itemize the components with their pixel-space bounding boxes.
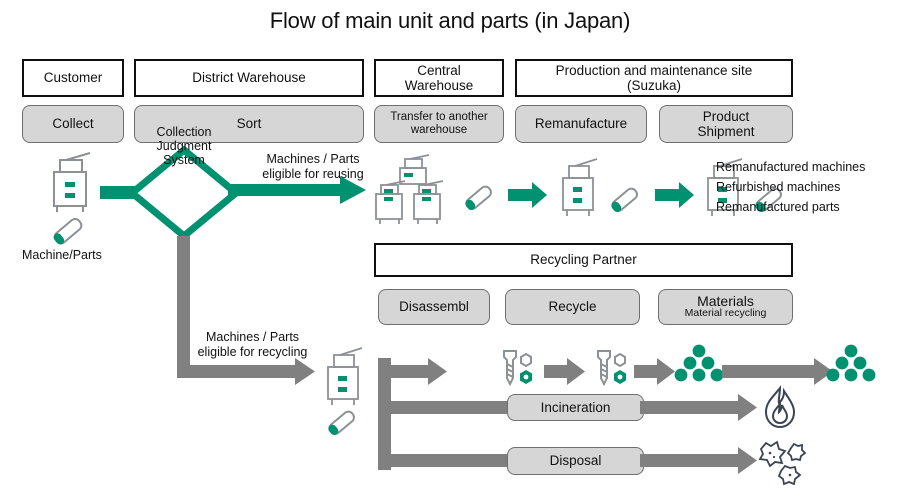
decision-line-2: Judgment <box>157 139 212 153</box>
header-central-warehouse: Central Warehouse <box>374 59 504 97</box>
process-transfer-to-another-warehouse[interactable]: Transfer to another warehouse <box>374 105 504 143</box>
label-recycle-branch: Machines / Parts eligible for recycling <box>180 330 325 360</box>
waste-debris-icon <box>755 437 811 489</box>
header-customer-label: Customer <box>44 70 103 85</box>
process-collect[interactable]: Collect <box>22 105 124 143</box>
process-remanufacture-label: Remanufacture <box>535 116 627 131</box>
material-granules-icon-1 <box>676 344 722 386</box>
diagram-canvas: Flow of main unit and parts (in Japan) C… <box>0 0 900 500</box>
process-materials-sublabel: Material recycling <box>685 308 767 320</box>
toner-cartridge-icon <box>50 212 92 248</box>
label-recycle-branch-line1: Machines / Parts <box>180 330 325 345</box>
process-transfer-label-line1: Transfer to another <box>390 111 487 124</box>
gray-arrow-icon-lane1 <box>386 358 448 386</box>
header-central-warehouse-label-line1: Central <box>417 63 461 78</box>
process-recycle-label: Recycle <box>548 299 596 314</box>
process-disassemble-label: Disassembl <box>399 299 469 314</box>
toner-cartridge-icon-central <box>608 182 648 216</box>
screw-and-nut-icon-2 <box>589 348 635 392</box>
output-label-1: Refurbished machines <box>716 178 900 198</box>
process-sort-label: Sort <box>237 116 262 131</box>
header-customer: Customer <box>22 59 124 97</box>
green-arrow-icon-reuse <box>228 176 368 208</box>
process-product-shipment-label-line1: Product <box>703 109 750 124</box>
header-district-warehouse-label: District Warehouse <box>192 70 306 85</box>
copier-stack-icon <box>372 156 464 226</box>
label-reuse-branch-line1: Machines / Parts <box>238 152 388 167</box>
process-disposal-label: Disposal <box>550 453 602 468</box>
gray-arrow-icon-lane3-out <box>640 447 758 475</box>
gray-arrow-icon-lane1d <box>722 358 834 386</box>
gray-connector-lane3-in <box>386 454 511 467</box>
flame-icon <box>757 385 803 431</box>
process-incineration[interactable]: Incineration <box>507 394 644 421</box>
header-production-site-label-line2: (Suzuka) <box>627 78 681 93</box>
process-transfer-label-line2: warehouse <box>411 124 467 137</box>
gray-arrow-icon-lane2-out <box>640 394 758 422</box>
decision-line-1: Collection <box>157 125 212 139</box>
process-disassemble[interactable]: Disassembl <box>378 289 490 325</box>
decision-line-3: System <box>163 153 205 167</box>
header-recycling-partner: Recycling Partner <box>374 243 793 277</box>
process-product-shipment[interactable]: Product Shipment <box>659 105 793 143</box>
label-machine-parts-input: Machine/Parts <box>22 248 152 263</box>
material-granules-icon-2 <box>828 344 874 386</box>
process-disposal[interactable]: Disposal <box>507 447 644 475</box>
header-central-warehouse-label-line2: Warehouse <box>405 78 474 93</box>
page-title: Flow of main unit and parts (in Japan) <box>0 8 900 34</box>
header-recycling-partner-label: Recycling Partner <box>530 252 637 267</box>
copier-icon-warehouse-out <box>555 156 613 224</box>
process-collect-label: Collect <box>52 116 93 131</box>
header-production-site-label-line1: Production and maintenance site <box>556 63 753 78</box>
header-district-warehouse: District Warehouse <box>134 59 364 97</box>
output-label-0: Remanufactured machines <box>716 158 900 178</box>
green-arrow-icon-2 <box>655 182 695 210</box>
gray-connector-lane2-in <box>386 401 511 414</box>
screw-and-nut-icon-1 <box>495 348 541 392</box>
output-label-2: Remanufactured parts <box>716 198 900 218</box>
process-incineration-label: Incineration <box>541 400 611 415</box>
process-recycle[interactable]: Recycle <box>505 289 640 325</box>
gray-arrow-icon-to-recycle <box>177 358 317 386</box>
copier-icon <box>44 152 108 216</box>
copier-icon-recycle <box>320 345 378 413</box>
toner-cartridge-icon-warehouse <box>462 180 502 214</box>
process-materials[interactable]: Materials Material recycling <box>658 289 793 325</box>
output-labels: Remanufactured machines Refurbished mach… <box>716 158 900 217</box>
gray-arrow-icon-lane1c <box>634 358 676 386</box>
header-production-site: Production and maintenance site (Suzuka) <box>515 59 793 97</box>
process-remanufacture[interactable]: Remanufacture <box>515 105 647 143</box>
gray-arrow-icon-lane1b <box>544 358 586 386</box>
process-product-shipment-label-line2: Shipment <box>697 124 754 139</box>
toner-cartridge-icon-recycle <box>325 405 365 439</box>
